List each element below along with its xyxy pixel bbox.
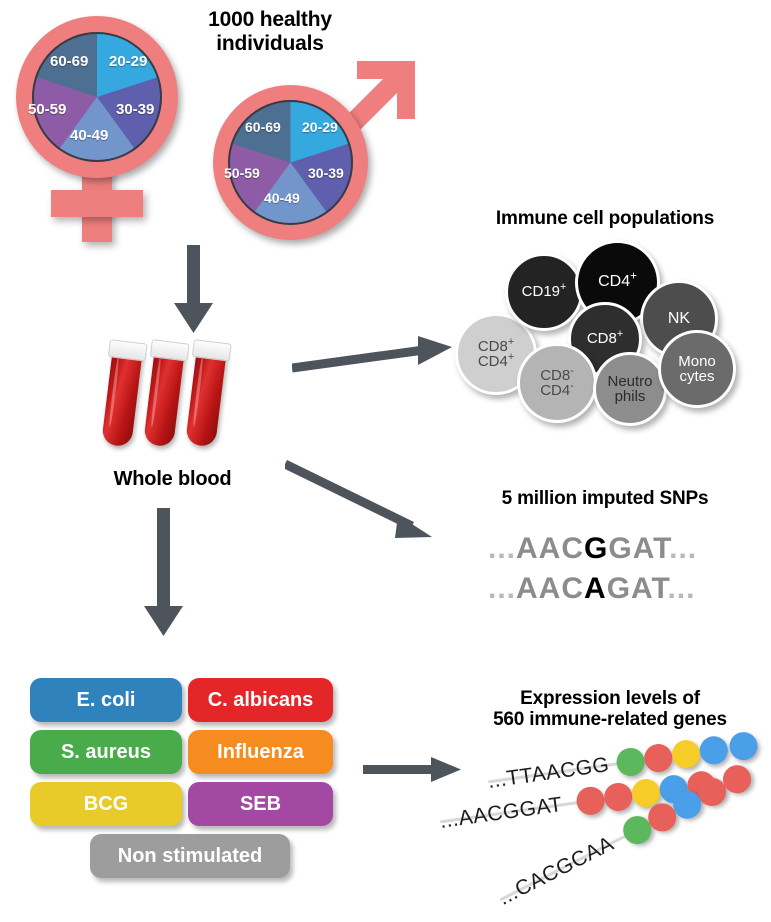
female-pie-label-30-39: 30-39 <box>116 101 154 118</box>
stimulus-influenza[interactable]: Influenza <box>188 730 333 774</box>
immune-cell-cluster: CD8+ CD4+ CD19+ CD4+ NK CD8+ CD8- CD4- N… <box>455 240 755 420</box>
blood-tube-body <box>101 347 143 448</box>
male-pie-label-40-49: 40-49 <box>264 190 300 206</box>
snp-row1-prefix: AAC <box>516 532 584 565</box>
immune-cell-label: Monocytes <box>678 354 716 385</box>
snp-row1-suffix: GAT <box>608 532 669 565</box>
arrow-blood-to-snps <box>285 460 450 545</box>
stimulus-label: S. aureus <box>61 741 151 764</box>
gene-bead-blue <box>728 730 760 762</box>
blood-tube-gloss <box>150 357 161 427</box>
stimulus-bcg[interactable]: BCG <box>30 782 182 826</box>
stimulus-label: Influenza <box>217 741 304 764</box>
cohort-title-line1: 1000 healthy <box>170 8 370 32</box>
expression-strand-cluster: ...TTAACGG ...AACGGAT ...CACGCAA <box>440 735 770 910</box>
stimulus-label: SEB <box>240 793 281 816</box>
stimulus-label: C. albicans <box>208 689 314 712</box>
gene-bead-red <box>602 781 634 813</box>
gene-bead-green <box>615 746 647 778</box>
female-gender-symbol: 20-29 30-39 40-49 50-59 60-69 <box>8 10 188 240</box>
stimulus-label: BCG <box>84 793 128 816</box>
cohort-title-line2: individuals <box>170 32 370 56</box>
blood-tube <box>143 347 185 448</box>
blood-tube-gloss <box>108 357 119 427</box>
strand-sequence: ...AACGGAT <box>438 793 564 834</box>
snp-row1-variant: G <box>584 532 608 565</box>
expression-title-line1: Expression levels of <box>460 688 760 709</box>
immune-cell-label: CD8- CD4- <box>540 368 574 399</box>
arrow-blood-to-stimuli <box>140 508 188 638</box>
arrow-cohort-to-blood <box>170 245 218 335</box>
snp-row2-prefix: AAC <box>516 572 584 605</box>
strand-sequence: ...CACGCAA <box>495 832 618 911</box>
expression-title-line2: 560 immune-related genes <box>460 709 760 730</box>
cohort-title: 1000 healthy individuals <box>170 8 370 55</box>
snp-row2-suffix: GAT <box>607 572 668 605</box>
snp-row2-trail: ... <box>667 572 695 605</box>
immune-cell-label: CD8+ <box>587 331 623 346</box>
snp-sequence-row-2: ...AACAGAT... <box>488 572 695 606</box>
snp-row2-lead: ... <box>488 572 516 605</box>
snps-title: 5 million imputed SNPs <box>455 488 755 509</box>
immune-cell-populations-title: Immune cell populations <box>455 208 755 229</box>
stimulus-seb[interactable]: SEB <box>188 782 333 826</box>
immune-cell-cd19pos: CD19+ <box>505 253 583 331</box>
gene-bead-yellow <box>670 738 702 770</box>
female-pie-label-50-59: 50-59 <box>28 101 66 118</box>
blood-tube-gloss <box>192 357 203 427</box>
stimulus-s-aureus[interactable]: S. aureus <box>30 730 182 774</box>
snp-sequence-row-1: ...AACGGAT... <box>488 532 697 566</box>
snp-row1-trail: ... <box>669 532 697 565</box>
expression-title: Expression levels of 560 immune-related … <box>460 688 760 731</box>
arrow-blood-to-immune <box>292 335 457 380</box>
whole-blood-label: Whole blood <box>85 468 260 490</box>
stimulus-non-stimulated[interactable]: Non stimulated <box>90 834 290 878</box>
female-pie-label-60-69: 60-69 <box>50 53 88 70</box>
male-pie-label-60-69: 60-69 <box>245 119 281 135</box>
female-symbol-stem-cross <box>51 190 143 217</box>
male-pie-label-20-29: 20-29 <box>302 119 338 135</box>
stimulus-label: E. coli <box>77 689 136 712</box>
blood-tube-body <box>143 347 185 448</box>
gene-bead-red <box>643 742 675 774</box>
immune-cell-neutrophils: Neutrophils <box>593 352 667 426</box>
immune-cell-label: CD19+ <box>522 284 567 299</box>
stimulus-e-coli[interactable]: E. coli <box>30 678 182 722</box>
stimulus-c-albicans[interactable]: C. albicans <box>188 678 333 722</box>
blood-tube-body <box>185 347 227 448</box>
blood-tube <box>101 347 143 448</box>
immune-cell-label: CD4+ <box>598 274 637 290</box>
immune-cell-cd8neg-cd4neg: CD8- CD4- <box>517 343 597 423</box>
stimulus-label: Non stimulated <box>118 845 262 868</box>
male-pie-label-50-59: 50-59 <box>224 165 260 181</box>
blood-tube <box>185 347 227 448</box>
gene-bead-blue <box>698 734 730 766</box>
stimuli-panel: E. coli C. albicans S. aureus Influenza … <box>30 678 330 898</box>
male-pie-label-30-39: 30-39 <box>308 165 344 181</box>
immune-cell-label: Neutrophils <box>607 374 652 405</box>
snp-row2-variant: A <box>584 572 607 605</box>
male-gender-symbol: 20-29 30-39 40-49 50-59 60-69 <box>205 55 425 255</box>
immune-cell-label: CD8+ CD4+ <box>478 339 514 370</box>
female-pie-label-40-49: 40-49 <box>70 127 108 144</box>
whole-blood-tubes <box>105 340 235 450</box>
immune-cell-monocytes: Monocytes <box>658 330 736 408</box>
female-pie-label-20-29: 20-29 <box>109 53 147 70</box>
snp-row1-lead: ... <box>488 532 516 565</box>
gene-bead-red <box>575 785 607 817</box>
immune-cell-label: NK <box>668 311 690 327</box>
